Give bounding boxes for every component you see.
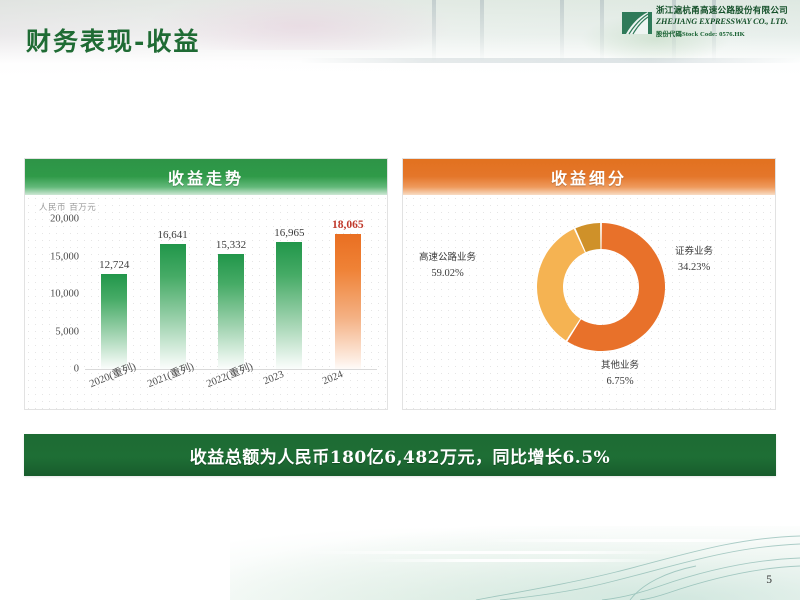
bar-value-label: 16,965 (274, 227, 304, 239)
bar-plot-area: 12,72416,64115,33216,96518,065 (85, 219, 377, 369)
bar-value-label: 15,332 (216, 239, 246, 251)
y-axis-tick-label: 5,000 (29, 326, 79, 337)
bar-slot: 16,965 (260, 219, 318, 369)
y-axis-tick-label: 20,000 (29, 214, 79, 225)
bridge-pillar-icon (560, 0, 564, 62)
page-title: 财务表现-收益 (26, 22, 200, 58)
footer-streak (480, 539, 780, 542)
pie-label-securities-name: 证券业务 (675, 246, 713, 257)
bridge-pillar-icon (432, 0, 436, 62)
revenue-trend-bar-chart: 人民币 百万元 05,00010,00015,00020,000 12,7241… (25, 195, 387, 410)
x-axis-tick-label: 2023 (262, 369, 286, 387)
bridge-deck-icon (300, 58, 800, 63)
revenue-trend-header: 收益走势 (25, 159, 387, 195)
footer-decoration (0, 510, 800, 600)
logo-company-en: ZHEJIANG EXPRESSWAY CO., LTD. (656, 17, 788, 28)
summary-banner: 收益总额为人民币180亿6,482万元，同比增长6.5% (24, 434, 776, 476)
bar-slot: 12,724 (85, 219, 143, 369)
logo-stock-code-cn: 股份代碼 (656, 30, 682, 38)
footer-road-lines-icon (380, 510, 800, 600)
donut-slice-证券业务 (537, 229, 585, 340)
bar-slot: 15,332 (202, 219, 260, 369)
pie-label-other: 其他业务 6.75% (601, 359, 639, 390)
bar-2022(重列): 15,332 (218, 254, 244, 369)
pie-label-expressway: 高速公路业务 59.02% (419, 251, 476, 282)
bar-2021(重列): 16,641 (160, 244, 186, 369)
bar-slot: 18,065 (319, 219, 377, 369)
revenue-breakdown-header-label: 收益细分 (551, 165, 627, 189)
x-axis-tick-label: 2024 (321, 369, 345, 387)
pie-label-securities: 证券业务 34.23% (675, 245, 713, 276)
pie-label-expressway-name: 高速公路业务 (419, 252, 476, 263)
bar-2020(重列): 12,724 (101, 274, 127, 369)
y-axis-unit-label: 人民币 百万元 (39, 201, 96, 213)
bridge-pillar-icon (480, 0, 484, 62)
slide-canvas: 财务表现-收益 浙江滬杭甬高速公路股份有限公司 ZHEJIANG EXPRESS… (0, 0, 800, 600)
pie-label-expressway-value: 59.02% (419, 266, 476, 282)
revenue-breakdown-panel: 收益细分 高速公路业务 59.02% 证券业务 34.23% 其他业务 6.75… (402, 158, 776, 410)
pie-label-other-value: 6.75% (601, 374, 639, 390)
y-axis-tick-label: 10,000 (29, 289, 79, 300)
bar-value-label: 12,724 (99, 259, 129, 271)
bridge-pillar-icon (600, 0, 604, 62)
pie-label-securities-value: 34.23% (675, 260, 713, 276)
company-logo: 浙江滬杭甬高速公路股份有限公司 ZHEJIANG EXPRESSWAY CO.,… (616, 3, 796, 55)
bar-2023: 16,965 (276, 242, 302, 369)
revenue-trend-panel: 收益走势 人民币 百万元 05,00010,00015,00020,000 12… (24, 158, 388, 410)
summary-banner-text: 收益总额为人民币180亿6,482万元，同比增长6.5% (190, 443, 610, 468)
logo-text-group: 浙江滬杭甬高速公路股份有限公司 ZHEJIANG EXPRESSWAY CO.,… (656, 6, 788, 38)
y-axis-ticks: 05,00010,00015,00020,000 (29, 219, 79, 369)
y-axis-tick-label: 15,000 (29, 251, 79, 262)
expressway-swoosh-icon (622, 8, 652, 38)
page-number: 5 (766, 574, 772, 586)
bar-value-label: 18,065 (332, 219, 364, 231)
footer-wash (230, 526, 800, 600)
logo-stock-code-en: Stock Code: 0576.HK (682, 31, 745, 38)
footer-streak (360, 559, 660, 562)
revenue-breakdown-header: 收益细分 (403, 159, 775, 195)
pie-label-other-name: 其他业务 (601, 360, 639, 371)
bar-value-label: 16,641 (157, 229, 187, 241)
logo-company-cn: 浙江滬杭甬高速公路股份有限公司 (656, 7, 788, 17)
donut-graphic (535, 221, 667, 353)
revenue-trend-header-label: 收益走势 (168, 165, 244, 189)
logo-stock-code: 股份代碼Stock Code: 0576.HK (656, 29, 788, 38)
revenue-breakdown-donut-chart: 高速公路业务 59.02% 证券业务 34.23% 其他业务 6.75% (403, 195, 775, 410)
footer-streak (300, 551, 680, 554)
x-axis-labels: 2020(重列)2021(重列)2022(重列)20232024 (85, 371, 377, 410)
bar-slot: 16,641 (143, 219, 201, 369)
bar-2024: 18,065 (335, 234, 361, 369)
y-axis-tick-label: 0 (29, 364, 79, 375)
